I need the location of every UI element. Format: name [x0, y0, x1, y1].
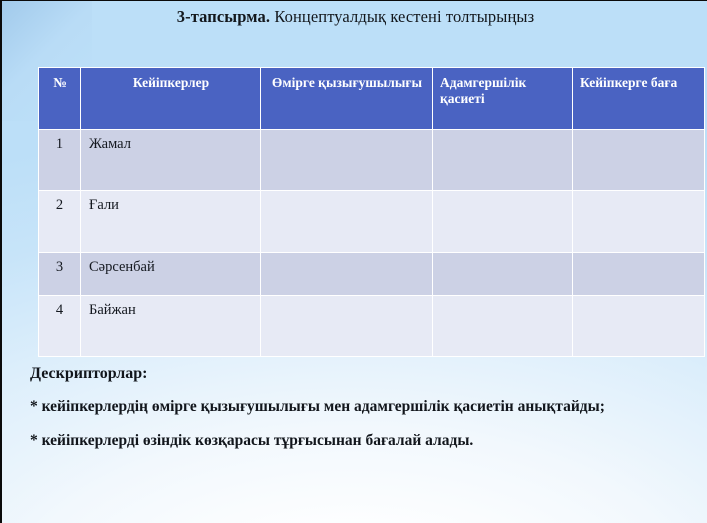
table-row: 4 Байжан — [39, 296, 705, 357]
column-header-interest: Өмірге қызығушылығы — [261, 68, 433, 130]
cell-row-number: 4 — [39, 296, 81, 357]
page-title: 3-тапсырма. Концептуалдық кестені толтыр… — [2, 7, 707, 27]
slide-canvas: 3-тапсырма. Концептуалдық кестені толтыр… — [0, 0, 707, 523]
descriptor-item-2: * кейіпкерлерді өзіндік көзқарасы тұрғыс… — [30, 431, 690, 451]
cell-humanity[interactable] — [433, 253, 573, 296]
cell-evaluation[interactable] — [573, 296, 705, 357]
cell-row-number: 2 — [39, 191, 81, 253]
cell-evaluation[interactable] — [573, 253, 705, 296]
column-header-humanity: Адамгершілік қасиеті — [433, 68, 573, 130]
cell-character[interactable]: Жамал — [81, 130, 261, 191]
descriptors-heading: Дескрипторлар: — [30, 363, 690, 385]
concept-table: № Кейіпкерлер Өмірге қызығушылығы Адамге… — [38, 67, 705, 357]
cell-interest[interactable] — [261, 191, 433, 253]
table-row: 3 Сәрсенбай — [39, 253, 705, 296]
cell-interest[interactable] — [261, 253, 433, 296]
cell-humanity[interactable] — [433, 130, 573, 191]
cell-character[interactable]: Ғали — [81, 191, 261, 253]
descriptor-item-1: * кейіпкерлердің өмірге қызығушылығы мен… — [30, 397, 690, 417]
table-header-row: № Кейіпкерлер Өмірге қызығушылығы Адамге… — [39, 68, 705, 130]
cell-row-number: 1 — [39, 130, 81, 191]
cell-humanity[interactable] — [433, 191, 573, 253]
concept-table-container: № Кейіпкерлер Өмірге қызығушылығы Адамге… — [38, 67, 704, 337]
column-header-evaluation: Кейіпкерге баға — [573, 68, 705, 130]
cell-evaluation[interactable] — [573, 130, 705, 191]
descriptors-block: Дескрипторлар: * кейіпкерлердің өмірге қ… — [30, 363, 690, 452]
cell-row-number: 3 — [39, 253, 81, 296]
page-title-text: Концептуалдық кестені толтырыңыз — [274, 7, 534, 26]
cell-character[interactable]: Байжан — [81, 296, 261, 357]
cell-humanity[interactable] — [433, 296, 573, 357]
column-header-no: № — [39, 68, 81, 130]
column-header-characters: Кейіпкерлер — [81, 68, 261, 130]
page-title-task-number: 3-тапсырма. — [177, 7, 270, 26]
cell-evaluation[interactable] — [573, 191, 705, 253]
cell-character[interactable]: Сәрсенбай — [81, 253, 261, 296]
table-row: 2 Ғали — [39, 191, 705, 253]
table-row: 1 Жамал — [39, 130, 705, 191]
cell-interest[interactable] — [261, 130, 433, 191]
cell-interest[interactable] — [261, 296, 433, 357]
